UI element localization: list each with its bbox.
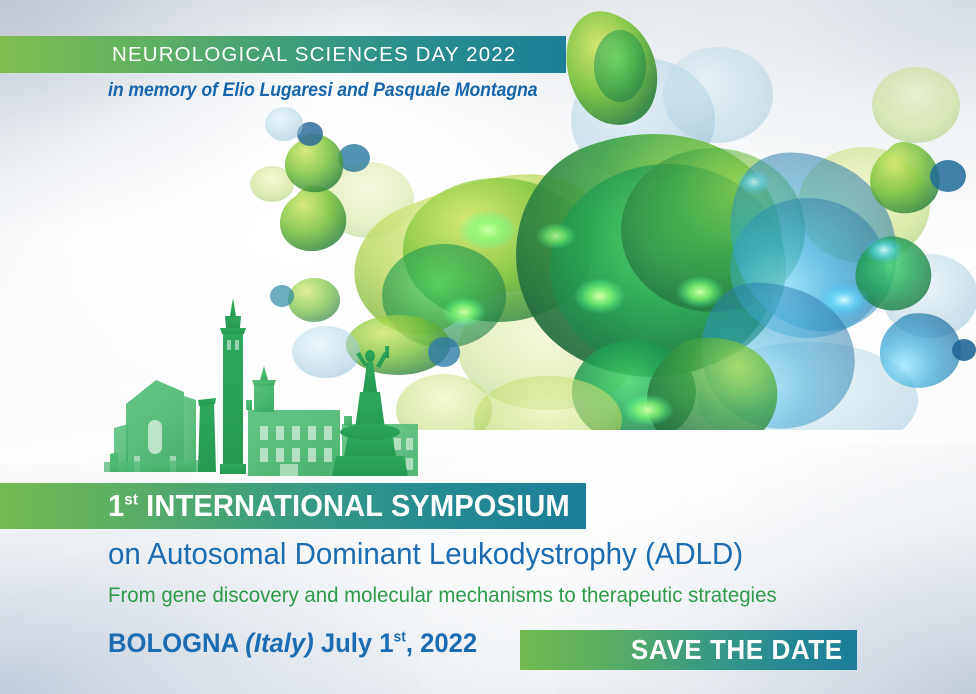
symposium-ordinal: 1 [108,488,124,523]
date-suffix: , 2022 [406,628,477,658]
save-the-date-label: SAVE THE DATE [631,634,843,666]
save-the-date-banner: SAVE THE DATE [520,630,857,670]
subject-line: on Autosomal Dominant Leukodystrophy (AD… [108,536,743,572]
tagline: From gene discovery and molecular mechan… [108,583,777,608]
symposium-title: 1st INTERNATIONAL SYMPOSIUM [108,488,570,524]
symposium-title-bar: 1st INTERNATIONAL SYMPOSIUM [0,483,586,529]
bologna-skyline-silhouette [88,296,428,496]
city-label: BOLOGNA [108,628,245,658]
symposium-title-text: INTERNATIONAL SYMPOSIUM [138,488,570,523]
symposium-ordinal-suffix: st [124,490,138,508]
event-title-bar: NEUROLOGICAL SCIENCES DAY 2022 [0,36,566,73]
memorial-line: in memory of Elio Lugaresi and Pasquale … [108,80,538,102]
country-label: (Italy) [245,628,313,658]
event-title: NEUROLOGICAL SCIENCES DAY 2022 [112,43,516,67]
location-date-line: BOLOGNA (Italy) July 1st, 2022 [108,628,477,659]
poster-canvas: NEUROLOGICAL SCIENCES DAY 2022 in memory… [0,0,976,694]
date-prefix: July 1 [314,628,394,658]
date-ordinal-suffix: st [394,630,406,646]
